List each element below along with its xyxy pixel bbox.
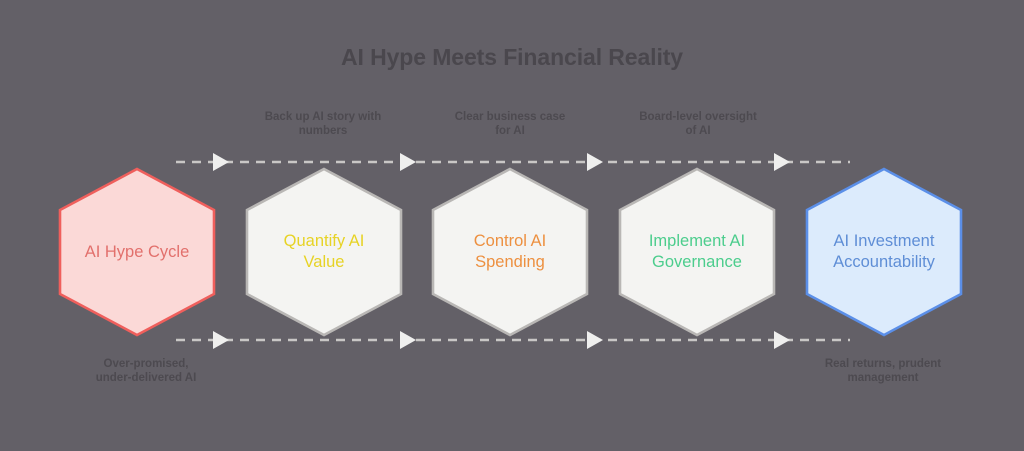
hex-label-line: Control AI [474,231,546,252]
hex-label-line: Governance [649,252,745,273]
hex-label-line: Quantify AI [284,231,365,252]
caption-top-clear-business-case: Clear business case for AI [420,110,600,138]
caption-top-board-level-oversight: Board-level oversight of AI [608,110,788,138]
caption-bottom-over-promised: Over-promised, under-delivered AI [56,357,236,385]
caption-line: Back up AI story with [233,110,413,124]
hex-label-line: Accountability [833,252,935,273]
caption-line: management [793,371,973,385]
hex-label-line: Spending [474,252,546,273]
hex-label-line: AI Hype Cycle [85,242,190,263]
hex-node-quantify-ai-value[interactable]: Quantify AI Value [244,166,404,338]
hex-label: Control AI Spending [452,231,568,273]
caption-line: Board-level oversight [608,110,788,124]
caption-line: Over-promised, [56,357,236,371]
caption-line: Clear business case [420,110,600,124]
hex-node-ai-hype-cycle[interactable]: AI Hype Cycle [57,166,217,338]
caption-top-back-up-ai-story: Back up AI story with numbers [233,110,413,138]
caption-line: of AI [608,124,788,138]
hex-node-implement-ai-governance[interactable]: Implement AI Governance [617,166,777,338]
caption-bottom-real-returns: Real returns, prudent management [793,357,973,385]
hex-label-line: AI Investment [833,231,935,252]
hex-label: AI Hype Cycle [63,242,212,263]
hex-label: Quantify AI Value [262,231,387,273]
hex-node-ai-investment-accountability[interactable]: AI Investment Accountability [804,166,964,338]
caption-line: under-delivered AI [56,371,236,385]
hex-label-line: Value [284,252,365,273]
hex-label-line: Implement AI [649,231,745,252]
hex-node-control-ai-spending[interactable]: Control AI Spending [430,166,590,338]
hex-label: Implement AI Governance [627,231,767,273]
diagram-canvas: AI Hype Meets Financial Reality Back up … [0,0,1024,451]
caption-line: Real returns, prudent [793,357,973,371]
hex-label: AI Investment Accountability [811,231,957,273]
caption-line: numbers [233,124,413,138]
caption-line: for AI [420,124,600,138]
page-title: AI Hype Meets Financial Reality [0,44,1024,71]
